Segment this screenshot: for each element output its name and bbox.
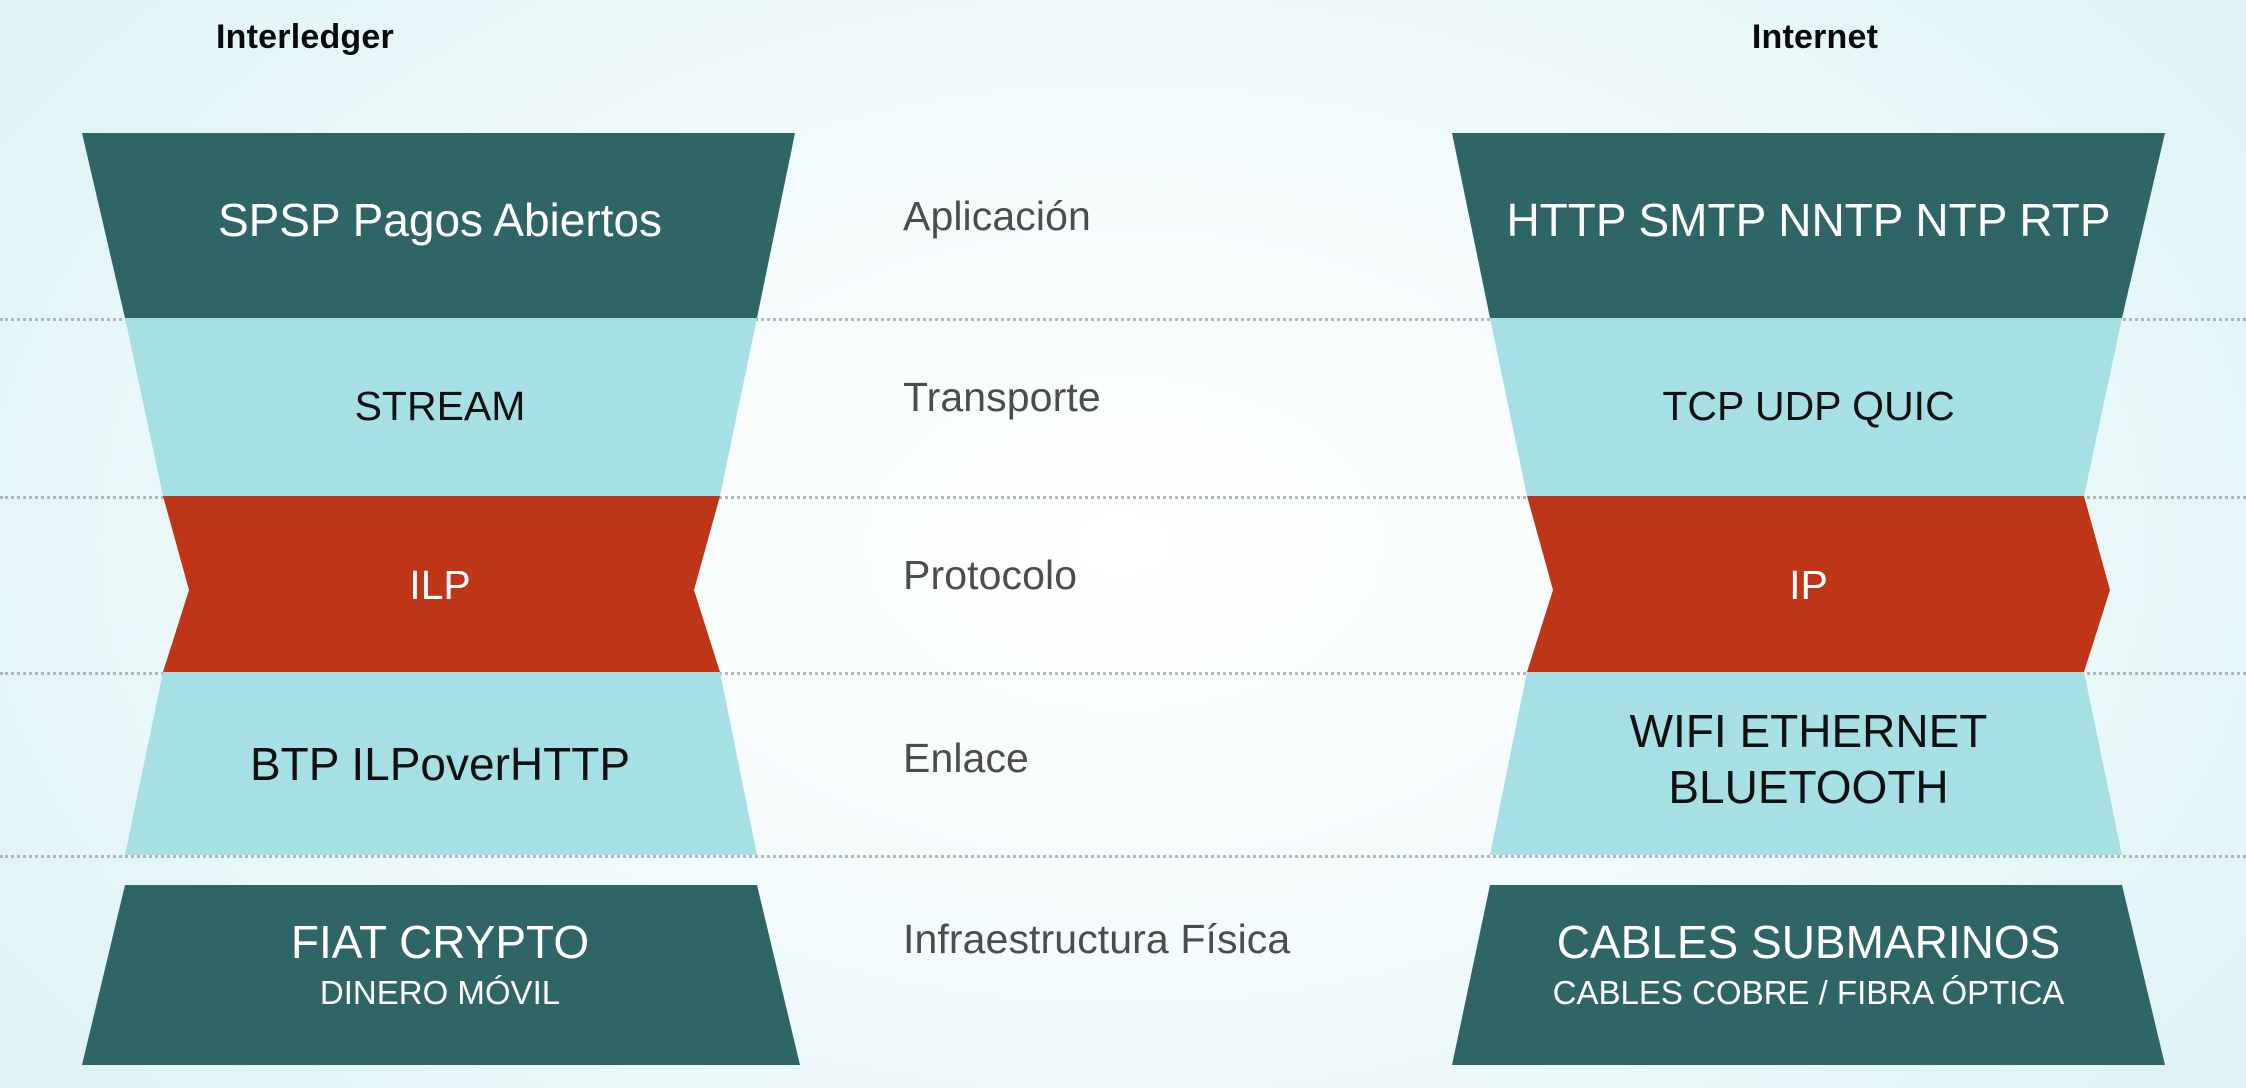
layer-name-infraestructura-fisica: Infraestructura Física bbox=[903, 916, 1290, 963]
band-right-enlace bbox=[1490, 672, 2122, 855]
layer-name-transporte: Transporte bbox=[903, 374, 1101, 421]
band-right-infraestructura bbox=[1452, 885, 2165, 1065]
layer-name-protocolo: Protocolo bbox=[903, 552, 1077, 599]
band-right-transporte bbox=[1490, 318, 2122, 496]
band-right-protocolo bbox=[1527, 496, 2110, 672]
band-right-aplicacion bbox=[1452, 133, 2165, 318]
layer-name-aplicacion: Aplicación bbox=[903, 193, 1091, 240]
diagram-canvas: Interledger Internet SPSP Pagos Abiertos… bbox=[0, 0, 2246, 1088]
layer-name-enlace: Enlace bbox=[903, 735, 1029, 782]
